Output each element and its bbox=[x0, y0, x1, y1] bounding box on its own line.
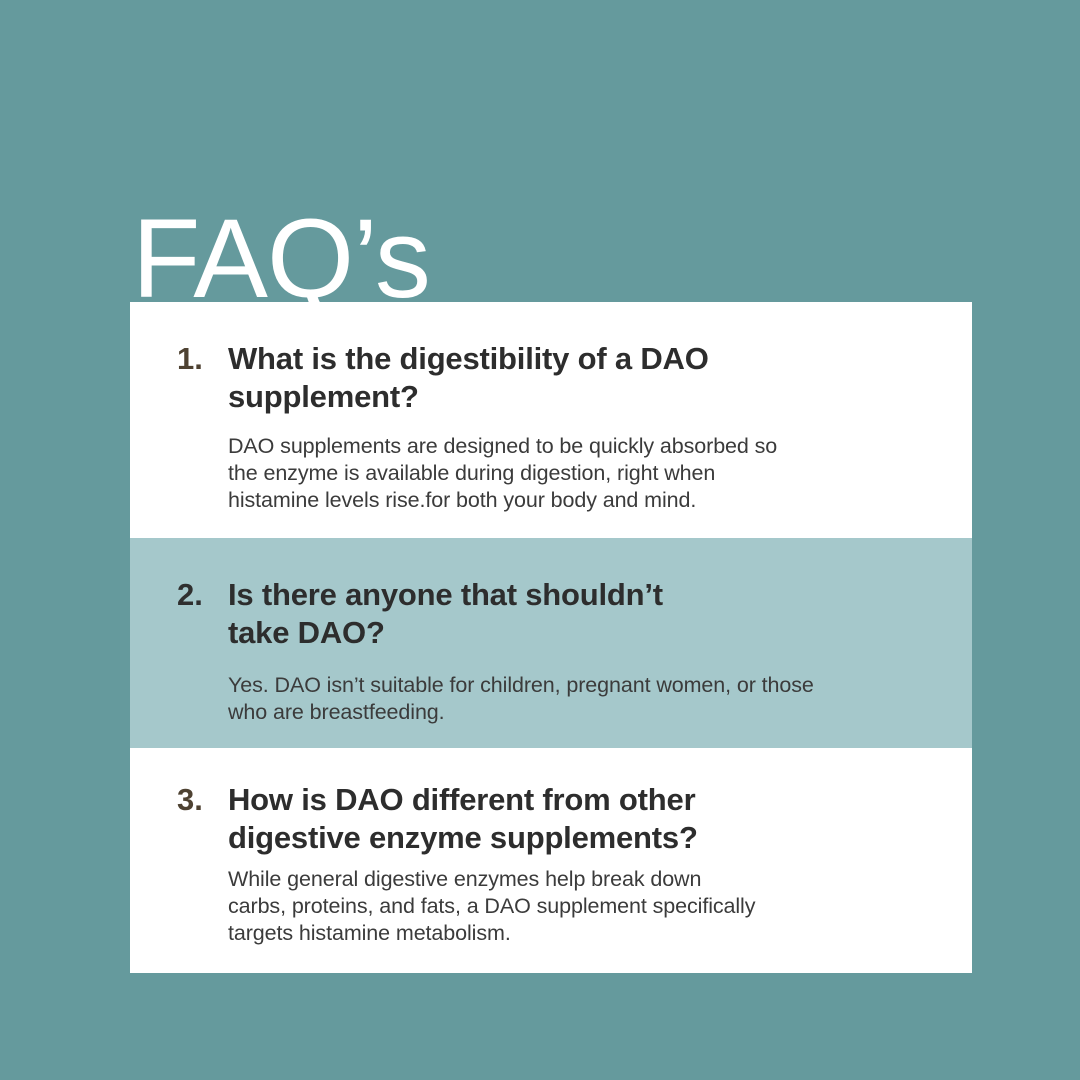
faq-item-1[interactable]: 1. What is the digestibility of a DAO su… bbox=[130, 302, 972, 538]
faq-number-2: 2. bbox=[177, 576, 203, 614]
faq-answer-1-line-1: DAO supplements are designed to be quick… bbox=[228, 433, 972, 460]
faq-question-1-line-2: supplement? bbox=[228, 378, 928, 416]
faq-page: FAQ’s 1. What is the digestibility of a … bbox=[0, 0, 1080, 1080]
faq-question-2-line-2: take DAO? bbox=[228, 614, 928, 652]
faq-question-2: Is there anyone that shouldn’t take DAO? bbox=[228, 576, 928, 652]
faq-question-1: What is the digestibility of a DAO suppl… bbox=[228, 340, 928, 416]
faq-question-2-line-1: Is there anyone that shouldn’t bbox=[228, 576, 928, 614]
faq-question-3-line-1: How is DAO different from other bbox=[228, 781, 928, 819]
faq-number-3: 3. bbox=[177, 781, 203, 819]
faq-question-row-2: 2. Is there anyone that shouldn’t take D… bbox=[130, 538, 972, 652]
faq-answer-3-line-2: carbs, proteins, and fats, a DAO supplem… bbox=[228, 893, 972, 920]
page-title: FAQ’s bbox=[132, 203, 430, 315]
faq-item-3[interactable]: 3. How is DAO different from other diges… bbox=[130, 748, 972, 973]
faq-number-1: 1. bbox=[177, 340, 203, 378]
faq-item-2[interactable]: 2. Is there anyone that shouldn’t take D… bbox=[130, 538, 972, 748]
faq-question-3: How is DAO different from other digestiv… bbox=[228, 781, 928, 857]
faq-answer-2: Yes. DAO isn’t suitable for children, pr… bbox=[130, 652, 972, 726]
faq-answer-2-line-2: who are breastfeeding. bbox=[228, 699, 972, 726]
faq-answer-3-line-1: While general digestive enzymes help bre… bbox=[228, 866, 972, 893]
faq-question-row-3: 3. How is DAO different from other diges… bbox=[130, 748, 972, 857]
faq-question-3-line-2: digestive enzyme supplements? bbox=[228, 819, 928, 857]
faq-answer-2-line-1: Yes. DAO isn’t suitable for children, pr… bbox=[228, 672, 972, 699]
faq-answer-1-line-2: the enzyme is available during digestion… bbox=[228, 460, 972, 487]
faq-answer-1: DAO supplements are designed to be quick… bbox=[130, 416, 972, 514]
faq-question-row-1: 1. What is the digestibility of a DAO su… bbox=[130, 302, 972, 416]
faq-card: 1. What is the digestibility of a DAO su… bbox=[130, 302, 972, 973]
faq-answer-3-line-3: targets histamine metabolism. bbox=[228, 920, 972, 947]
faq-answer-1-line-3: histamine levels rise.for both your body… bbox=[228, 487, 972, 514]
faq-answer-3: While general digestive enzymes help bre… bbox=[130, 857, 972, 947]
faq-question-1-line-1: What is the digestibility of a DAO bbox=[228, 340, 928, 378]
